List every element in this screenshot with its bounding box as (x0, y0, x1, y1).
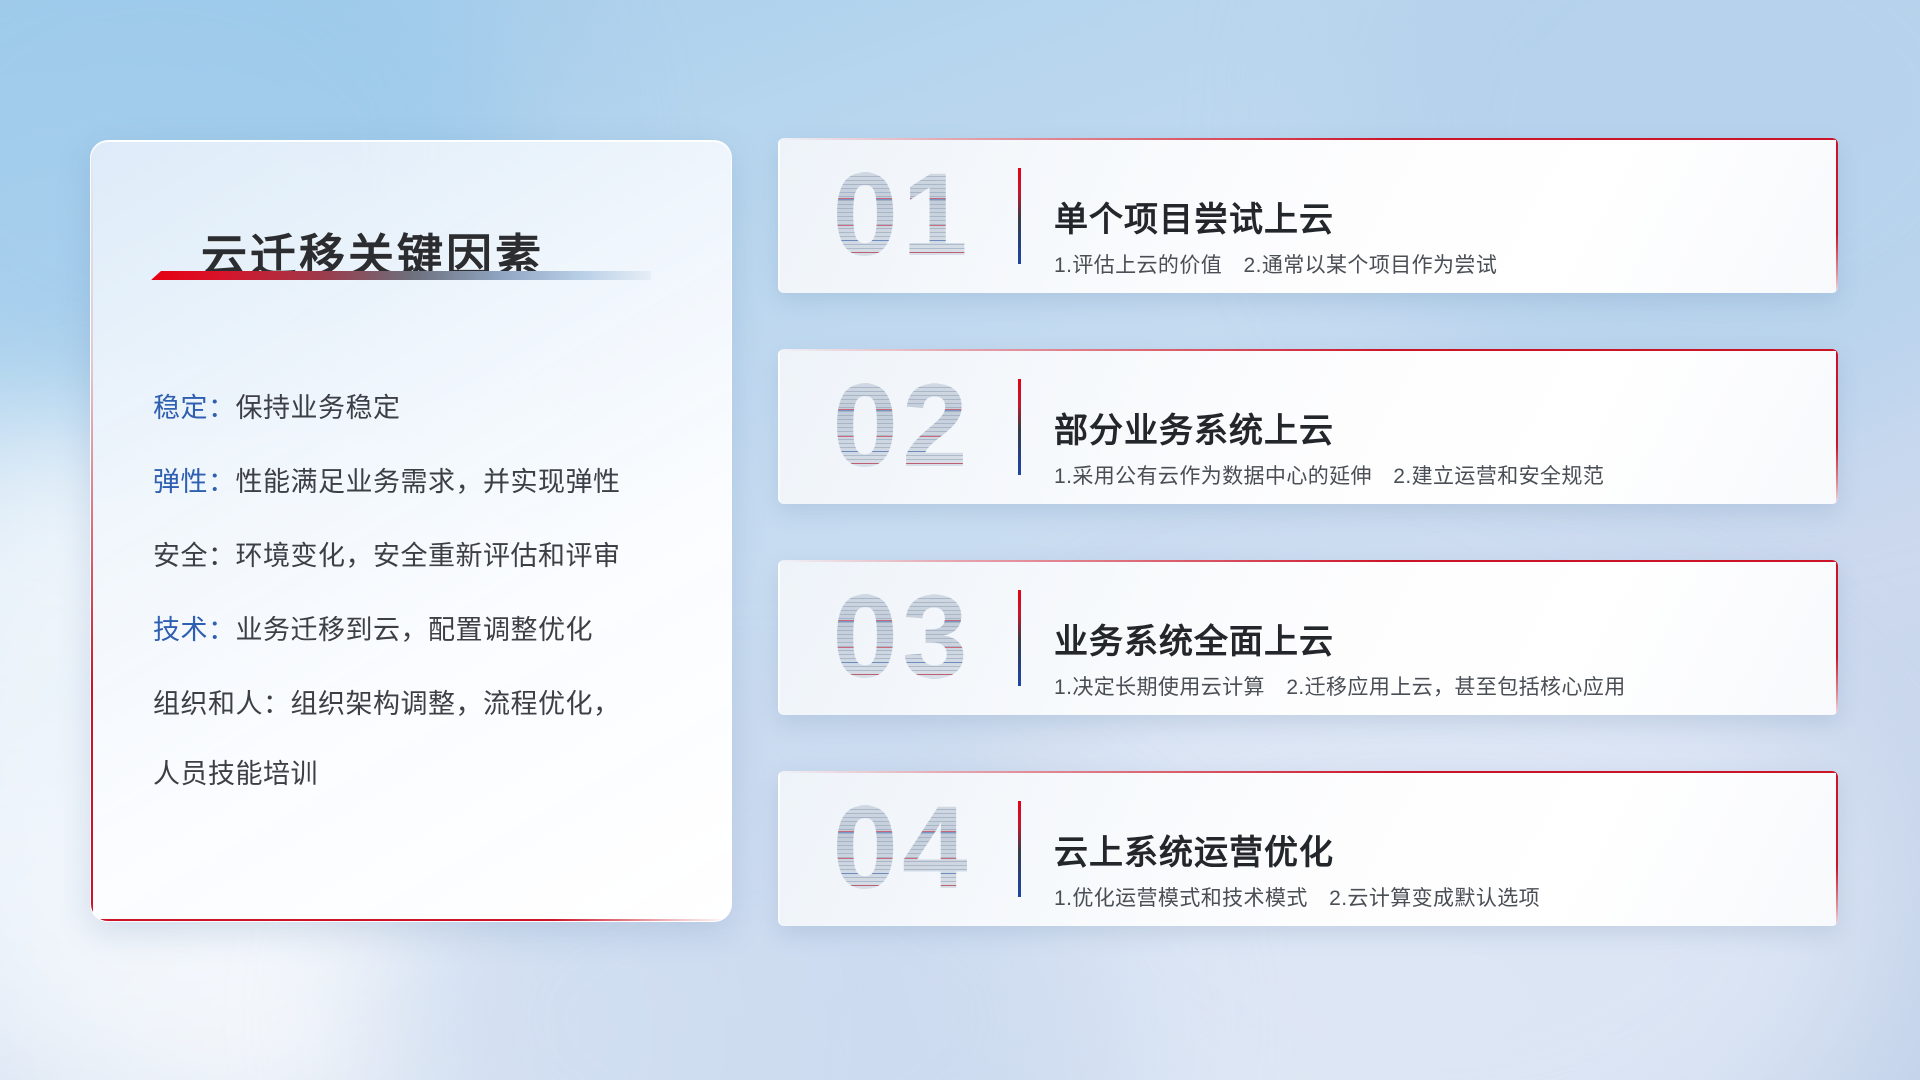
card-left-highlight (778, 138, 780, 293)
title-underline-bar (151, 271, 651, 280)
card-divider-line (1018, 801, 1021, 897)
stage-card-01[interactable]: 01 01 单个项目尝试上云 1.评估上云的价值 2.通常以某个项目作为尝试 (778, 138, 1838, 293)
card-right-accent (1836, 771, 1838, 926)
card-description: 1.决定长期使用云计算 2.迁移应用上云，甚至包括核心应用 (1054, 671, 1626, 701)
stage-number: 01 (802, 144, 1002, 286)
migration-stage-cards: 01 01 单个项目尝试上云 1.评估上云的价值 2.通常以某个项目作为尝试 0… (778, 138, 1838, 926)
factor-key: 安全： (153, 541, 236, 571)
card-divider-line (1018, 379, 1021, 475)
card-description: 1.采用公有云作为数据中心的延伸 2.建立运营和安全规范 (1054, 460, 1604, 490)
stage-number: 03 (802, 566, 1002, 708)
card-description: 1.评估上云的价值 2.通常以某个项目作为尝试 (1054, 249, 1497, 279)
card-right-accent (1836, 138, 1838, 293)
stage-card-04[interactable]: 04 04 云上系统运营优化 1.优化运营模式和技术模式 2.云计算变成默认选项 (778, 771, 1838, 926)
factor-text: 业务迁移到云，配置调整优化 (236, 615, 594, 645)
factor-text: 组织架构调整，流程优化， (291, 689, 621, 719)
card-left-highlight (778, 560, 780, 715)
card-divider-line (1018, 168, 1021, 264)
card-left-highlight (778, 349, 780, 504)
factor-key: 组织和人： (153, 689, 291, 719)
card-right-accent (1836, 560, 1838, 715)
list-item: 稳定：保持业务稳定 (153, 371, 691, 445)
card-title: 业务系统全面上云 (1054, 614, 1334, 663)
list-item: 安全：环境变化，安全重新评估和评审 (153, 519, 691, 593)
card-right-accent (1836, 349, 1838, 504)
list-item: 组织和人：组织架构调整，流程优化， (153, 667, 691, 741)
factor-text: 性能满足业务需求，并实现弹性 (236, 467, 621, 497)
list-item: 弹性：性能满足业务需求，并实现弹性 (153, 445, 691, 519)
stage-card-03[interactable]: 03 03 业务系统全面上云 1.决定长期使用云计算 2.迁移应用上云，甚至包括… (778, 560, 1838, 715)
factor-key: 技术： (153, 615, 236, 645)
factor-key: 弹性： (153, 467, 236, 497)
card-title: 单个项目尝试上云 (1054, 192, 1334, 241)
key-factors-list: 稳定：保持业务稳定 弹性：性能满足业务需求，并实现弹性 安全：环境变化，安全重新… (153, 371, 691, 811)
key-factors-panel: 云迁移关键因素 稳定：保持业务稳定 弹性：性能满足业务需求，并实现弹性 安全：环… (90, 140, 732, 922)
card-divider-line (1018, 590, 1021, 686)
card-top-accent (778, 138, 1838, 140)
slide-canvas: 云迁移关键因素 稳定：保持业务稳定 弹性：性能满足业务需求，并实现弹性 安全：环… (0, 0, 1920, 1080)
factor-text: 保持业务稳定 (236, 393, 401, 423)
card-title: 云上系统运营优化 (1054, 825, 1334, 874)
stage-number: 02 (802, 355, 1002, 497)
card-description: 1.优化运营模式和技术模式 2.云计算变成默认选项 (1054, 882, 1540, 912)
card-top-accent (778, 771, 1838, 773)
card-title: 部分业务系统上云 (1054, 403, 1334, 452)
title-underline-rule (151, 271, 651, 280)
list-item: 技术：业务迁移到云，配置调整优化 (153, 593, 691, 667)
card-top-accent (778, 560, 1838, 562)
factor-text: 环境变化，安全重新评估和评审 (236, 541, 621, 571)
stage-number: 04 (802, 777, 1002, 919)
card-top-accent (778, 349, 1838, 351)
card-left-highlight (778, 771, 780, 926)
stage-card-02[interactable]: 02 02 部分业务系统上云 1.采用公有云作为数据中心的延伸 2.建立运营和安… (778, 349, 1838, 504)
factor-key: 稳定： (153, 393, 236, 423)
list-item-continuation: 人员技能培训 (153, 737, 691, 811)
